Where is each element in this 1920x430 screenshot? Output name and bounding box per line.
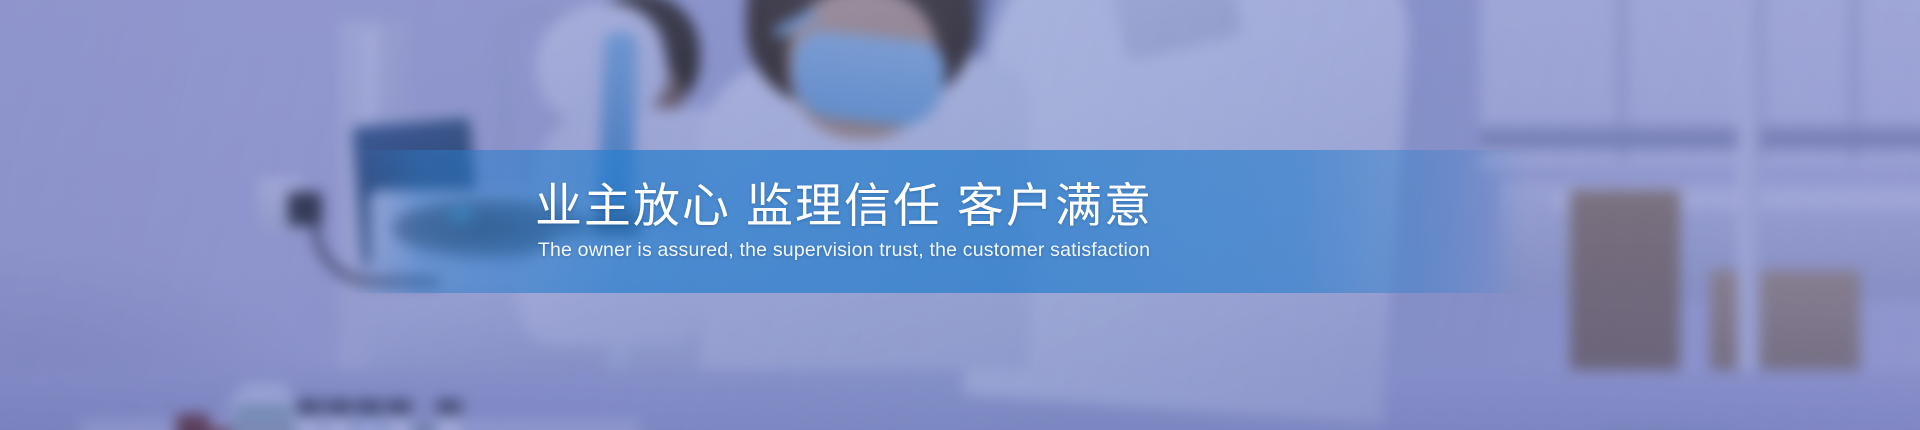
slogan-bar-content: 业主放心 监理信任 客户满意 The owner is assured, the… bbox=[0, 150, 1920, 293]
subheadline-english: The owner is assured, the supervision tr… bbox=[538, 239, 1150, 262]
hero-banner: 业主放心 监理信任 客户满意 The owner is assured, the… bbox=[0, 0, 1920, 430]
slogan-bar: 业主放心 监理信任 客户满意 The owner is assured, the… bbox=[0, 150, 1920, 293]
headline-chinese: 业主放心 监理信任 客户满意 bbox=[535, 180, 1153, 233]
